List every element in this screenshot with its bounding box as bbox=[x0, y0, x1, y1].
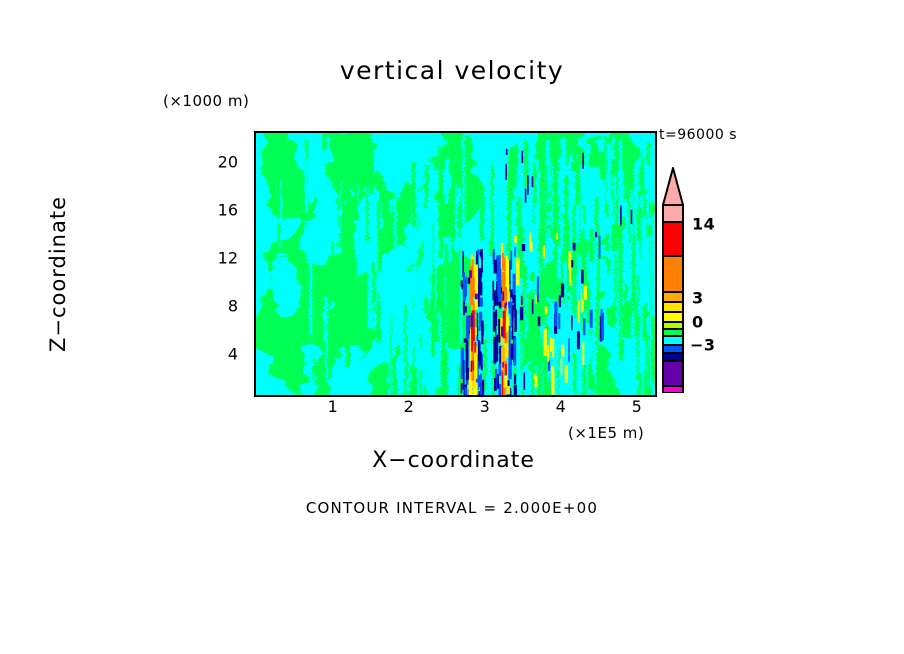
field-streak bbox=[413, 347, 415, 395]
plume-downdraft bbox=[465, 306, 467, 312]
plume-downdraft bbox=[461, 348, 464, 360]
field-streak bbox=[540, 135, 543, 224]
x-axis-unit-label: (×1E5 m) bbox=[568, 424, 644, 442]
plume-downdraft bbox=[480, 298, 483, 307]
plume-envelope bbox=[506, 256, 508, 287]
field-streak bbox=[427, 235, 429, 257]
field-filament bbox=[545, 306, 548, 314]
field-streak bbox=[394, 165, 397, 265]
field-streak bbox=[564, 176, 568, 250]
field-streak bbox=[549, 298, 551, 329]
field-filament bbox=[583, 319, 585, 336]
field-streak bbox=[652, 240, 655, 279]
field-streak bbox=[357, 226, 360, 276]
field-streak bbox=[646, 142, 649, 165]
field-filament bbox=[599, 236, 601, 259]
y-axis-ticks: 20 16 12 8 4 bbox=[180, 131, 246, 393]
field-filament bbox=[521, 296, 523, 305]
field-streak bbox=[392, 355, 396, 395]
field-streak bbox=[532, 359, 534, 385]
field-streak bbox=[412, 163, 416, 226]
field-streak bbox=[445, 244, 449, 277]
field-streak bbox=[651, 219, 652, 310]
plume-downdraft bbox=[479, 326, 481, 331]
field-filament bbox=[525, 189, 527, 203]
field-streak bbox=[572, 161, 575, 171]
colorbar-band bbox=[663, 205, 683, 222]
plume-core-deep bbox=[502, 362, 504, 368]
plume-envelope bbox=[475, 298, 478, 310]
field-streak bbox=[624, 377, 627, 395]
field-streak bbox=[651, 388, 654, 395]
field-filament bbox=[514, 236, 517, 243]
field-streak bbox=[455, 185, 456, 243]
field-streak bbox=[646, 267, 648, 281]
field-filament bbox=[584, 286, 587, 300]
field-streak bbox=[412, 298, 413, 310]
field-filament bbox=[578, 301, 580, 322]
field-streak bbox=[495, 148, 500, 161]
plume-downdraft bbox=[463, 272, 465, 301]
field-filament bbox=[581, 293, 583, 312]
field-filament bbox=[582, 153, 584, 169]
plume-downdraft bbox=[477, 249, 479, 255]
x-tick-label: 3 bbox=[480, 397, 491, 416]
field-streak bbox=[619, 257, 621, 344]
x-axis-ticks: 1 2 3 4 5 bbox=[254, 397, 653, 423]
field-filament bbox=[516, 258, 519, 286]
field-streak bbox=[576, 204, 580, 242]
field-streak bbox=[457, 189, 460, 206]
field-streak bbox=[404, 305, 406, 389]
field-filament bbox=[551, 366, 554, 393]
field-streak bbox=[435, 263, 436, 320]
field-filament bbox=[532, 299, 534, 314]
field-streak bbox=[534, 174, 537, 200]
plume-envelope bbox=[472, 390, 474, 395]
time-annotation: t=96000 s bbox=[659, 127, 737, 143]
field-streak bbox=[595, 197, 598, 229]
figure-canvas: vertical velocity (×1000 m) t=96000 s bbox=[0, 0, 904, 654]
field-filament bbox=[552, 339, 554, 358]
y-tick-label: 8 bbox=[228, 297, 238, 316]
field-streak bbox=[582, 366, 586, 395]
field-filament bbox=[571, 260, 573, 267]
field-filament bbox=[529, 233, 531, 251]
y-tick-label: 4 bbox=[228, 345, 238, 364]
field-streak bbox=[477, 156, 480, 177]
field-streak bbox=[390, 314, 391, 395]
field-streak bbox=[377, 302, 381, 344]
x-tick-label: 4 bbox=[556, 397, 567, 416]
field-streak bbox=[614, 176, 616, 224]
plume-downdraft bbox=[466, 316, 469, 339]
field-streak bbox=[340, 182, 341, 260]
field-streak bbox=[523, 226, 524, 317]
colorbar-band bbox=[663, 312, 683, 322]
colorbar-band bbox=[663, 256, 683, 292]
field-streak bbox=[278, 223, 281, 241]
field-filament bbox=[538, 316, 541, 326]
field-filament bbox=[561, 284, 564, 298]
field-filament bbox=[561, 345, 564, 357]
field-streak bbox=[418, 217, 420, 231]
field-streak bbox=[492, 361, 493, 395]
plume-core-deep bbox=[504, 303, 506, 308]
field-streak bbox=[514, 144, 518, 187]
field-streak bbox=[598, 365, 601, 395]
plume-downdraft bbox=[510, 251, 512, 270]
field-filament bbox=[521, 151, 523, 163]
field-streak bbox=[637, 275, 639, 379]
plume-envelope bbox=[468, 380, 472, 395]
field-streak bbox=[322, 134, 326, 151]
field-streak bbox=[305, 159, 308, 212]
plume-core bbox=[502, 348, 504, 373]
field-filament bbox=[532, 176, 534, 187]
field-streak bbox=[647, 179, 650, 225]
field-streak bbox=[517, 333, 520, 372]
field-streak bbox=[431, 274, 434, 357]
field-filament bbox=[620, 206, 622, 226]
plume-downdraft bbox=[468, 278, 471, 284]
field-streak bbox=[573, 354, 576, 395]
plume-core-deep bbox=[471, 361, 472, 372]
colorbar-band bbox=[663, 322, 683, 329]
field-filament bbox=[550, 338, 552, 352]
field-filament bbox=[522, 244, 525, 251]
x-tick-label: 5 bbox=[632, 397, 643, 416]
colorbar-band bbox=[663, 292, 683, 302]
field-streak bbox=[589, 270, 593, 289]
field-streak bbox=[546, 165, 547, 236]
field-filament bbox=[533, 374, 536, 378]
colorbar-band bbox=[663, 353, 683, 361]
field-streak bbox=[453, 168, 454, 268]
field-streak bbox=[421, 138, 422, 238]
field-streak bbox=[648, 385, 651, 395]
field-streak bbox=[460, 249, 462, 343]
plume-downdraft bbox=[477, 313, 478, 341]
field-streak bbox=[429, 162, 434, 220]
field-streak bbox=[549, 374, 551, 395]
field-streak bbox=[445, 160, 449, 204]
field-filament bbox=[535, 295, 536, 304]
field-filament bbox=[547, 345, 549, 362]
plume-downdraft bbox=[494, 260, 496, 274]
field-streak bbox=[644, 371, 647, 395]
field-filament bbox=[543, 246, 545, 259]
field-filament bbox=[556, 233, 558, 239]
plume-core bbox=[472, 360, 474, 370]
field-filament bbox=[505, 164, 507, 180]
colorbar-label: 3 bbox=[692, 289, 704, 308]
plume-downdraft bbox=[511, 344, 513, 360]
colorbar-band bbox=[663, 361, 683, 386]
field-filament bbox=[569, 262, 571, 286]
field-streak bbox=[308, 366, 311, 377]
field-streak bbox=[395, 346, 400, 356]
plume-core-deep bbox=[469, 270, 472, 278]
field-streak bbox=[425, 166, 428, 208]
field-streak bbox=[559, 350, 561, 366]
field-streak bbox=[366, 161, 368, 242]
field-streak bbox=[574, 391, 575, 395]
field-streak bbox=[625, 283, 628, 335]
colorbar bbox=[661, 167, 685, 393]
plume-downdraft bbox=[496, 335, 498, 362]
plume-core-deep bbox=[475, 294, 478, 300]
field-streak bbox=[278, 154, 282, 178]
field-streak bbox=[369, 167, 373, 193]
plot-field bbox=[254, 131, 657, 397]
y-tick-label: 12 bbox=[218, 249, 238, 268]
field-streak bbox=[493, 187, 496, 222]
field-streak bbox=[556, 379, 558, 395]
field-streak bbox=[522, 342, 523, 364]
plume-downdraft bbox=[466, 340, 469, 364]
field-filament bbox=[571, 315, 573, 330]
plume-core bbox=[502, 370, 504, 395]
field-filament bbox=[568, 338, 570, 362]
field-streak bbox=[407, 313, 409, 395]
field-streak bbox=[389, 200, 393, 212]
field-streak bbox=[453, 387, 455, 395]
field-filament bbox=[514, 309, 516, 332]
field-streak bbox=[561, 138, 566, 181]
colorbar-band bbox=[663, 345, 683, 353]
field-streak bbox=[642, 306, 646, 341]
field-streak bbox=[632, 236, 635, 307]
field-streak bbox=[316, 362, 321, 386]
field-streak bbox=[641, 337, 644, 358]
field-streak bbox=[417, 330, 420, 395]
field-streak bbox=[525, 289, 527, 340]
plume-downdraft bbox=[480, 282, 482, 295]
field-streak bbox=[462, 134, 465, 236]
field-filament bbox=[631, 210, 633, 224]
field-streak bbox=[309, 243, 312, 336]
plume-core bbox=[503, 388, 505, 395]
y-axis-unit-label: (×1000 m) bbox=[163, 92, 249, 110]
colorbar-band bbox=[663, 386, 683, 393]
field-filament bbox=[506, 149, 508, 155]
field-streak bbox=[488, 148, 491, 183]
field-filament bbox=[514, 295, 516, 310]
field-filament bbox=[523, 373, 525, 390]
field-streak bbox=[331, 242, 334, 283]
plume-downdraft bbox=[464, 338, 467, 342]
field-streak bbox=[626, 208, 629, 257]
plume-downdraft bbox=[514, 374, 516, 384]
field-filament bbox=[582, 342, 584, 365]
field-streak bbox=[346, 265, 351, 367]
colorbar-band bbox=[663, 302, 683, 312]
field-filament bbox=[577, 331, 580, 349]
field-streak bbox=[623, 157, 626, 200]
velocity-field-svg bbox=[256, 133, 655, 395]
y-tick-label: 20 bbox=[218, 153, 238, 172]
field-streak bbox=[614, 253, 616, 323]
plume-downdraft bbox=[461, 383, 463, 393]
plume-core-deep bbox=[501, 326, 503, 336]
plume-downdraft bbox=[514, 385, 517, 395]
field-streak bbox=[631, 311, 634, 395]
field-filament bbox=[544, 329, 547, 356]
x-axis-title: X−coordinate bbox=[254, 448, 653, 473]
field-streak bbox=[274, 391, 276, 395]
field-streak bbox=[482, 268, 485, 298]
field-streak bbox=[313, 357, 315, 384]
plume-downdraft bbox=[493, 312, 496, 332]
x-tick-label: 2 bbox=[404, 397, 415, 416]
field-streak bbox=[263, 378, 266, 395]
colorbar-label: −3 bbox=[690, 336, 716, 355]
field-streak bbox=[323, 341, 325, 395]
plume-envelope bbox=[506, 386, 510, 394]
field-streak bbox=[374, 195, 377, 264]
field-streak bbox=[417, 245, 418, 272]
field-streak bbox=[560, 156, 562, 255]
field-streak bbox=[383, 134, 385, 182]
field-streak bbox=[629, 175, 633, 188]
field-filament bbox=[520, 307, 523, 320]
y-axis-title: Z−coordinate bbox=[46, 154, 70, 394]
field-streak bbox=[608, 194, 612, 220]
field-streak bbox=[357, 183, 358, 203]
field-filament bbox=[595, 232, 597, 237]
field-filament bbox=[581, 270, 584, 284]
colorbar-band bbox=[663, 329, 683, 336]
field-streak bbox=[436, 388, 440, 395]
y-tick-label: 16 bbox=[218, 201, 238, 220]
plume-downdraft bbox=[466, 362, 468, 371]
contour-interval-caption: CONTOUR INTERVAL = 2.000E+00 bbox=[0, 499, 904, 517]
page-title: vertical velocity bbox=[0, 56, 904, 85]
plume-downdraft bbox=[492, 281, 494, 301]
field-streak bbox=[612, 135, 614, 161]
plume-downdraft bbox=[495, 298, 498, 305]
field-filament bbox=[573, 243, 576, 251]
plume-core bbox=[502, 253, 504, 270]
plume-downdraft bbox=[493, 306, 495, 311]
plume-core-deep bbox=[471, 315, 474, 327]
field-filament bbox=[565, 366, 568, 383]
field-streak bbox=[541, 288, 546, 325]
plume-downdraft bbox=[514, 247, 516, 257]
field-filament bbox=[561, 359, 563, 376]
plume-downdraft bbox=[481, 320, 483, 344]
field-streak bbox=[439, 313, 442, 378]
field-streak bbox=[488, 306, 492, 328]
colorbar-label: 0 bbox=[692, 313, 704, 332]
field-streak bbox=[639, 373, 642, 395]
field-filament bbox=[590, 310, 593, 328]
field-streak bbox=[585, 153, 588, 234]
field-streak bbox=[590, 393, 593, 395]
plume-core-deep bbox=[502, 291, 504, 300]
field-streak bbox=[363, 375, 368, 395]
plume-downdraft bbox=[479, 351, 482, 365]
x-tick-label: 1 bbox=[328, 397, 339, 416]
field-streak bbox=[383, 262, 387, 338]
field-filament bbox=[558, 313, 560, 329]
field-streak bbox=[589, 229, 593, 262]
field-streak bbox=[551, 165, 553, 229]
field-streak bbox=[277, 253, 280, 268]
colorbar-top-arrow bbox=[663, 168, 683, 205]
field-streak bbox=[418, 293, 420, 324]
plume-downdraft bbox=[480, 250, 483, 257]
field-streak bbox=[641, 218, 646, 295]
plume-downdraft bbox=[512, 305, 513, 332]
field-streak bbox=[507, 162, 511, 260]
colorbar-band bbox=[663, 222, 683, 256]
field-streak bbox=[422, 327, 424, 395]
colorbar-label: 14 bbox=[692, 215, 715, 234]
field-streak bbox=[534, 216, 536, 299]
field-filament bbox=[559, 295, 561, 307]
field-streak bbox=[455, 318, 456, 339]
field-streak bbox=[452, 286, 454, 313]
field-streak bbox=[368, 243, 373, 327]
plume-downdraft bbox=[464, 387, 467, 395]
plume-downdraft bbox=[480, 374, 482, 395]
field-streak bbox=[438, 146, 440, 209]
field-streak bbox=[441, 301, 445, 395]
field-streak bbox=[480, 185, 485, 240]
field-filament bbox=[601, 313, 604, 340]
colorbar-svg bbox=[661, 167, 685, 393]
field-filament bbox=[527, 175, 529, 195]
plume-core bbox=[505, 364, 507, 376]
field-streak bbox=[651, 317, 654, 380]
field-streak bbox=[522, 389, 524, 395]
field-streak bbox=[418, 148, 419, 174]
field-streak bbox=[353, 376, 354, 395]
field-filament bbox=[537, 276, 539, 302]
field-streak bbox=[306, 222, 309, 262]
plume-downdraft bbox=[494, 378, 496, 391]
colorbar-band bbox=[663, 336, 683, 345]
field-streak bbox=[616, 137, 618, 222]
plume-downdraft bbox=[493, 337, 496, 363]
field-streak bbox=[424, 296, 428, 312]
field-streak bbox=[570, 200, 571, 219]
plume-downdraft bbox=[498, 277, 501, 302]
plume-envelope bbox=[473, 388, 477, 395]
plume-downdraft bbox=[513, 337, 516, 365]
field-filament bbox=[554, 302, 557, 326]
